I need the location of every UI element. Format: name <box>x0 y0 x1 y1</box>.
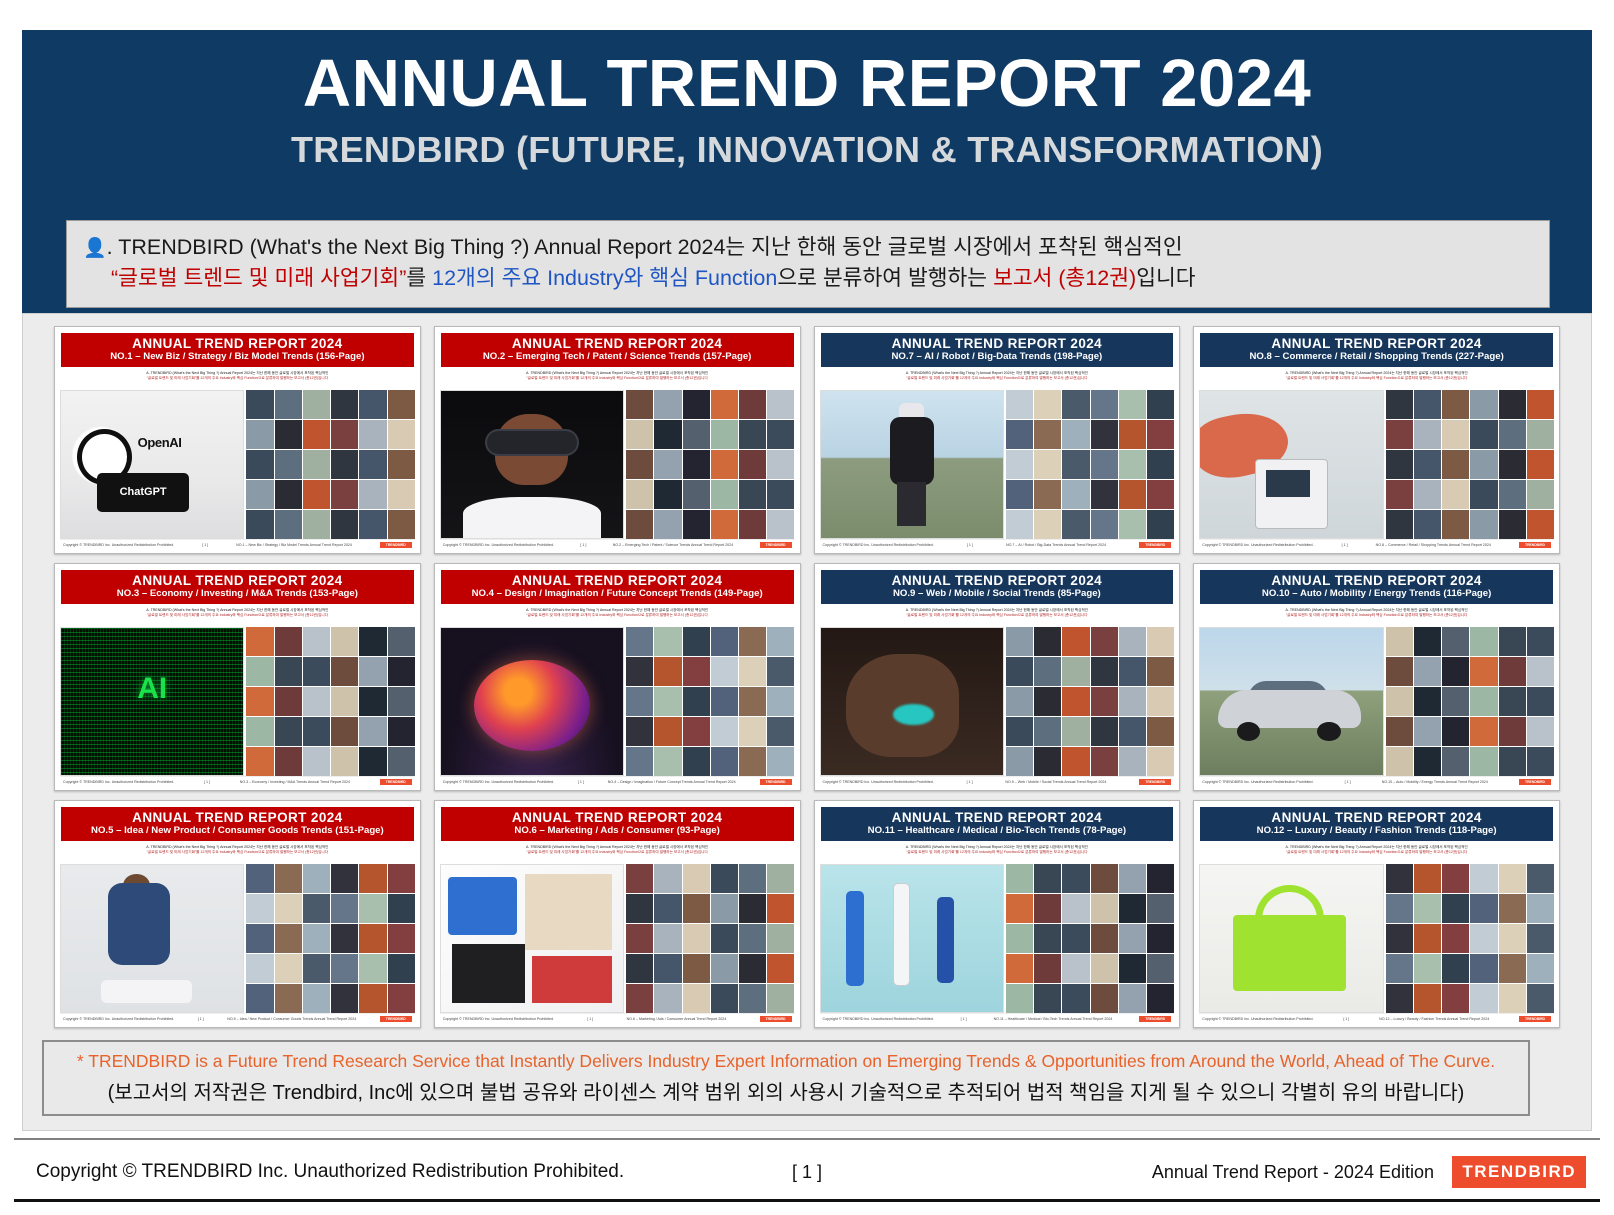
shirt-shape <box>463 497 602 538</box>
card-body <box>440 390 795 539</box>
thumbnail-tile <box>331 687 358 716</box>
card-footer-right: NO.8 – Commerce / Retail / Shopping Tren… <box>1376 543 1491 547</box>
card-footer: Copyright © TRENDBIRD Inc. Unauthorized … <box>440 539 795 550</box>
thumbnail-tile <box>331 657 358 686</box>
card-blurb-line-2: “글로벌 트렌드 및 미래 사업기회”를 12개의 주요 Industry와 핵… <box>1203 376 1550 381</box>
thumbnail-tile <box>246 717 273 746</box>
card-footer-copyright: Copyright © TRENDBIRD Inc. Unauthorized … <box>63 543 174 547</box>
thumbnail-tile <box>1091 627 1118 656</box>
thumbnail-tile <box>1034 450 1061 479</box>
thumbnail-tile <box>275 924 302 953</box>
thumbnail-tile <box>1414 954 1441 983</box>
card-footer-logo: TRENDBIRD <box>1519 779 1551 785</box>
thumbnail-tile <box>1119 627 1146 656</box>
thumbnail-tile <box>1499 984 1526 1013</box>
mobility-stool-shape <box>101 980 192 1004</box>
page-title: ANNUAL TREND REPORT 2024 <box>22 46 1592 121</box>
reports-grid: ANNUAL TREND REPORT 2024NO.1 – New Biz /… <box>32 323 1582 1028</box>
card-blurb: A. TRENDBIRD (What's the Next Big Thing … <box>440 368 795 390</box>
card-footer-page: [ 1 ] <box>961 1017 967 1021</box>
card-blurb: A. TRENDBIRD (What's the Next Big Thing … <box>440 842 795 864</box>
card-blurb-line-2: “글로벌 트렌드 및 미래 사업기회”를 12개의 주요 Industry와 핵… <box>444 613 791 618</box>
thumbnail-tile <box>1062 864 1089 893</box>
thumbnail-tile <box>246 747 273 776</box>
thumbnail-tile <box>246 864 273 893</box>
thumbnail-tile <box>1034 924 1061 953</box>
thumbnail-tile <box>767 657 794 686</box>
injection-pen-shape <box>937 897 953 982</box>
thumbnail-tile <box>683 420 710 449</box>
thumbnail-tile <box>1414 510 1441 539</box>
thumbnail-tile <box>626 954 653 983</box>
thumbnail-tile <box>1006 924 1033 953</box>
thumbnail-tile <box>1119 894 1146 923</box>
card-body <box>440 864 795 1013</box>
card-blurb: A. TRENDBIRD (What's the Next Big Thing … <box>1199 842 1554 864</box>
card-subtitle: NO.7 – AI / Robot / Big-Data Trends (198… <box>823 352 1172 363</box>
thumbnail-tile <box>331 717 358 746</box>
thumbnail-tile <box>1006 747 1033 776</box>
card-subtitle: NO.3 – Economy / Investing / M&A Trends … <box>63 589 412 600</box>
card-thumbnail-mosaic <box>626 627 794 776</box>
thumbnail-tile <box>1414 984 1441 1013</box>
card-footer-right: NO.11 – Healthcare / Medical / Bio-Tech … <box>994 1017 1113 1021</box>
thumbnail-tile <box>767 924 794 953</box>
card-hero-image <box>440 864 624 1013</box>
thumbnail-tile <box>388 894 415 923</box>
card-thumbnail-mosaic <box>1386 390 1554 539</box>
card-footer: Copyright © TRENDBIRD Inc. Unauthorized … <box>440 1013 795 1024</box>
card-blurb-line-2: “글로벌 트렌드 및 미래 사업기회”를 12개의 주요 Industry와 핵… <box>1203 850 1550 855</box>
thumbnail-tile <box>1414 390 1441 419</box>
thumbnail-tile <box>1499 390 1526 419</box>
card-footer-right: NO.9 – Web / Mobile / Social Trends Annu… <box>1005 780 1106 784</box>
thumbnail-tile <box>1414 747 1441 776</box>
card-title: ANNUAL TREND REPORT 2024 <box>443 573 792 588</box>
openai-wordmark: OpenAI <box>138 435 182 450</box>
card-blurb-line-2: “글로벌 트렌드 및 미래 사업기회”를 12개의 주요 Industry와 핵… <box>1203 613 1550 618</box>
thumbnail-tile <box>1527 717 1554 746</box>
thumbnail-tile <box>626 747 653 776</box>
footer-edition: Annual Trend Report - 2024 Edition <box>1152 1162 1434 1183</box>
thumbnail-tile <box>1386 390 1413 419</box>
thumbnail-tile <box>388 510 415 539</box>
thumbnail-tile <box>246 627 273 656</box>
thumbnail-tile <box>1147 627 1174 656</box>
thumbnail-tile <box>1062 984 1089 1013</box>
thumbnail-tile <box>739 747 766 776</box>
thumbnail-tile <box>683 687 710 716</box>
card-title: ANNUAL TREND REPORT 2024 <box>443 336 792 351</box>
thumbnail-tile <box>739 657 766 686</box>
card-footer-right: NO.4 – Design / Imagination / Future Con… <box>608 780 736 784</box>
thumbnail-tile <box>626 924 653 953</box>
thumbnail-tile <box>1386 747 1413 776</box>
card-footer: Copyright © TRENDBIRD Inc. Unauthorized … <box>1199 539 1554 550</box>
thumbnail-tile <box>711 717 738 746</box>
thumbnail-tile <box>1062 627 1089 656</box>
thumbnail-tile <box>1386 687 1413 716</box>
thumbnail-tile <box>683 627 710 656</box>
thumbnail-tile <box>1091 954 1118 983</box>
thumbnail-tile <box>1091 420 1118 449</box>
thumbnail-tile <box>388 864 415 893</box>
card-footer-logo: TRENDBIRD <box>380 779 412 785</box>
thumbnail-tile <box>331 747 358 776</box>
injection-pen-shape <box>846 891 864 985</box>
thumbnail-tile <box>683 894 710 923</box>
thumbnail-tile <box>1499 924 1526 953</box>
card-header: ANNUAL TREND REPORT 2024NO.8 – Commerce … <box>1199 332 1554 368</box>
thumbnail-tile <box>683 510 710 539</box>
description-text-3: 입니다 <box>1136 266 1195 290</box>
thumbnail-tile <box>1414 627 1441 656</box>
thumbnail-tile <box>275 747 302 776</box>
footer-divider <box>14 1138 1600 1140</box>
thumbnail-tile <box>331 984 358 1013</box>
thumbnail-tile <box>1091 510 1118 539</box>
thumbnail-tile <box>1386 627 1413 656</box>
thumbnail-tile <box>331 450 358 479</box>
card-hero-image <box>440 627 624 776</box>
report-card[interactable]: ANNUAL TREND REPORT 2024NO.6 – Marketing… <box>434 800 801 1028</box>
card-blurb: A. TRENDBIRD (What's the Next Big Thing … <box>440 605 795 627</box>
sphere-shape <box>474 660 591 751</box>
card-footer-logo: TRENDBIRD <box>1139 542 1171 548</box>
thumbnail-tile <box>683 864 710 893</box>
thumbnail-tile <box>1470 420 1497 449</box>
thumbnail-tile <box>1034 954 1061 983</box>
thumbnail-tile <box>739 480 766 509</box>
report-card[interactable]: ANNUAL TREND REPORT 2024NO.1 – New Biz /… <box>54 326 421 554</box>
thumbnail-tile <box>626 717 653 746</box>
thumbnail-tile <box>359 717 386 746</box>
thumbnail-tile <box>626 450 653 479</box>
thumbnail-tile <box>388 657 415 686</box>
card-footer-logo: TRENDBIRD <box>1139 779 1171 785</box>
thumbnail-tile <box>246 420 273 449</box>
card-blurb-line-2: “글로벌 트렌드 및 미래 사업기회”를 12개의 주요 Industry와 핵… <box>444 376 791 381</box>
card-thumbnail-mosaic <box>246 627 414 776</box>
thumbnail-tile <box>739 510 766 539</box>
thumbnail-tile <box>711 657 738 686</box>
thumbnail-tile <box>654 627 681 656</box>
thumbnail-tile <box>1386 450 1413 479</box>
description-text-1: 를 <box>406 266 432 290</box>
thumbnail-tile <box>1470 747 1497 776</box>
card-footer: Copyright © TRENDBIRD Inc. Unauthorized … <box>440 776 795 787</box>
thumbnail-tile <box>1147 747 1174 776</box>
report-card[interactable]: ANNUAL TREND REPORT 2024NO.4 – Design / … <box>434 563 801 791</box>
thumbnail-tile <box>275 450 302 479</box>
thumbnail-tile <box>331 627 358 656</box>
thumbnail-tile <box>767 954 794 983</box>
ai-letters: AI <box>61 672 243 706</box>
report-card[interactable]: ANNUAL TREND REPORT 2024NO.9 – Web / Mob… <box>814 563 1181 791</box>
thumbnail-tile <box>626 420 653 449</box>
card-title: ANNUAL TREND REPORT 2024 <box>63 573 412 588</box>
thumbnail-tile <box>739 717 766 746</box>
card-footer: Copyright © TRENDBIRD Inc. Unauthorized … <box>60 539 415 550</box>
thumbnail-tile <box>1091 984 1118 1013</box>
thumbnail-tile <box>1091 657 1118 686</box>
thumbnail-tile <box>1442 420 1469 449</box>
thumbnail-tile <box>1006 864 1033 893</box>
card-body <box>820 390 1175 539</box>
thumbnail-tile <box>1527 687 1554 716</box>
thumbnail-tile <box>1119 480 1146 509</box>
thumbnail-tile <box>1034 864 1061 893</box>
thumbnail-tile <box>1091 864 1118 893</box>
card-title: ANNUAL TREND REPORT 2024 <box>823 810 1172 825</box>
card-body: AI <box>60 627 415 776</box>
thumbnail-tile <box>767 984 794 1013</box>
thumbnail-tile <box>1006 717 1033 746</box>
thumbnail-tile <box>331 390 358 419</box>
thumbnail-tile <box>1147 657 1174 686</box>
thumbnail-tile <box>654 894 681 923</box>
thumbnail-tile <box>626 390 653 419</box>
thumbnail-tile <box>359 747 386 776</box>
card-footer-copyright: Copyright © TRENDBIRD Inc. Unauthorized … <box>823 1017 934 1021</box>
thumbnail-tile <box>1062 657 1089 686</box>
thumbnail-tile <box>683 450 710 479</box>
thumbnail-tile <box>711 420 738 449</box>
report-card[interactable]: ANNUAL TREND REPORT 2024NO.11 – Healthca… <box>814 800 1181 1028</box>
thumbnail-tile <box>626 480 653 509</box>
thumbnail-tile <box>1147 450 1174 479</box>
report-card[interactable]: ANNUAL TREND REPORT 2024NO.10 – Auto / M… <box>1193 563 1560 791</box>
thumbnail-tile <box>1470 480 1497 509</box>
card-thumbnail-mosaic <box>246 390 414 539</box>
thumbnail-tile <box>1470 510 1497 539</box>
footer-page-number: [ 1 ] <box>792 1162 822 1183</box>
card-hero-image <box>820 627 1004 776</box>
card-header: ANNUAL TREND REPORT 2024NO.7 – AI / Robo… <box>820 332 1175 368</box>
card-title: ANNUAL TREND REPORT 2024 <box>1202 336 1551 351</box>
thumbnail-tile <box>1442 984 1469 1013</box>
thumbnail-tile <box>1499 747 1526 776</box>
thumbnail-tile <box>711 984 738 1013</box>
thumbnail-tile <box>1006 954 1033 983</box>
thumbnail-tile <box>654 954 681 983</box>
card-hero-image <box>820 864 1004 1013</box>
card-title: ANNUAL TREND REPORT 2024 <box>1202 573 1551 588</box>
card-footer-page: [ 1 ] <box>967 780 973 784</box>
description-line-1: 👤. TRENDBIRD (What's the Next Big Thing … <box>83 232 1533 263</box>
thumbnail-tile <box>1470 657 1497 686</box>
thumbnail-tile <box>711 480 738 509</box>
thumbnail-tile <box>654 510 681 539</box>
card-footer-logo: TRENDBIRD <box>1139 1016 1171 1022</box>
thumbnail-tile <box>626 864 653 893</box>
thumbnail-tile <box>388 717 415 746</box>
thumbnail-tile <box>1386 420 1413 449</box>
thumbnail-tile <box>1442 480 1469 509</box>
thumbnail-tile <box>275 657 302 686</box>
trendbird-logo: TRENDBIRD <box>1452 1156 1586 1188</box>
card-footer-copyright: Copyright © TRENDBIRD Inc. Unauthorized … <box>63 1017 174 1021</box>
thumbnail-tile <box>683 747 710 776</box>
thumbnail-tile <box>1499 420 1526 449</box>
card-header: ANNUAL TREND REPORT 2024NO.1 – New Biz /… <box>60 332 415 368</box>
card-header: ANNUAL TREND REPORT 2024NO.2 – Emerging … <box>440 332 795 368</box>
card-body <box>60 864 415 1013</box>
thumbnail-tile <box>1470 687 1497 716</box>
thumbnail-tile <box>1091 390 1118 419</box>
card-footer-logo: TRENDBIRD <box>380 1016 412 1022</box>
thumbnail-tile <box>1119 717 1146 746</box>
card-footer: Copyright © TRENDBIRD Inc. Unauthorized … <box>820 539 1175 550</box>
thumbnail-tile <box>275 717 302 746</box>
card-thumbnail-mosaic <box>626 390 794 539</box>
thumbnail-tile <box>711 627 738 656</box>
thumbnail-tile <box>1499 480 1526 509</box>
thumbnail-tile <box>303 894 330 923</box>
thumbnail-tile <box>739 450 766 479</box>
thumbnail-tile <box>1119 687 1146 716</box>
collage-tile <box>525 874 613 951</box>
card-footer-right: NO.7 – AI / Robot / Big-Data Trends Annu… <box>1006 543 1106 547</box>
thumbnail-tile <box>683 717 710 746</box>
card-footer: Copyright © TRENDBIRD Inc. Unauthorized … <box>60 1013 415 1024</box>
card-footer-page: [ 1 ] <box>1345 780 1351 784</box>
thumbnail-tile <box>1442 924 1469 953</box>
description-text-2: 으로 분류하여 발행하는 <box>777 266 993 290</box>
thumbnail-tile <box>1386 924 1413 953</box>
thumbnail-tile <box>767 420 794 449</box>
card-hero-image <box>820 390 1004 539</box>
thumbnail-tile <box>303 747 330 776</box>
thumbnail-tile <box>1062 924 1089 953</box>
card-footer: Copyright © TRENDBIRD Inc. Unauthorized … <box>1199 776 1554 787</box>
thumbnail-tile <box>1470 390 1497 419</box>
card-header: ANNUAL TREND REPORT 2024NO.9 – Web / Mob… <box>820 569 1175 605</box>
thumbnail-tile <box>303 480 330 509</box>
notice-english: * TRENDBIRD is a Future Trend Research S… <box>77 1051 1495 1072</box>
thumbnail-tile <box>1091 480 1118 509</box>
thumbnail-tile <box>331 864 358 893</box>
thumbnail-tile <box>1499 687 1526 716</box>
thumbnail-tile <box>711 450 738 479</box>
thumbnail-tile <box>1062 687 1089 716</box>
thumbnail-tile <box>1470 984 1497 1013</box>
thumbnail-tile <box>359 480 386 509</box>
thumbnail-tile <box>1386 510 1413 539</box>
thumbnail-tile <box>359 864 386 893</box>
thumbnail-tile <box>388 480 415 509</box>
thumbnail-tile <box>1006 627 1033 656</box>
thumbnail-tile <box>359 510 386 539</box>
thumbnail-tile <box>1499 510 1526 539</box>
report-card[interactable]: ANNUAL TREND REPORT 2024NO.3 – Economy /… <box>54 563 421 791</box>
card-footer-right: NO.3 – Economy / Investing / M&A Trends … <box>240 780 350 784</box>
thumbnail-tile <box>1527 627 1554 656</box>
card-footer-copyright: Copyright © TRENDBIRD Inc. Unauthorized … <box>823 780 934 784</box>
thumbnail-tile <box>359 894 386 923</box>
thumbnail-tile <box>388 420 415 449</box>
report-card[interactable]: ANNUAL TREND REPORT 2024NO.12 – Luxury /… <box>1193 800 1560 1028</box>
description-highlight-blue-1: 12개의 주요 Industry와 핵심 Function <box>432 266 777 290</box>
card-header: ANNUAL TREND REPORT 2024NO.11 – Healthca… <box>820 806 1175 842</box>
thumbnail-tile <box>654 450 681 479</box>
robot-body-shape <box>890 417 934 485</box>
thumbnail-tile <box>1119 954 1146 983</box>
thumbnail-tile <box>1386 984 1413 1013</box>
thumbnail-tile <box>739 984 766 1013</box>
thumbnail-tile <box>654 747 681 776</box>
thumbnail-tile <box>303 420 330 449</box>
thumbnail-tile <box>359 450 386 479</box>
collage-tile <box>532 956 612 1003</box>
thumbnail-tile <box>246 984 273 1013</box>
thumbnail-tile <box>1499 954 1526 983</box>
report-card[interactable]: ANNUAL TREND REPORT 2024NO.2 – Emerging … <box>434 326 801 554</box>
thumbnail-tile <box>388 984 415 1013</box>
thumbnail-tile <box>359 657 386 686</box>
thumbnail-tile <box>1034 480 1061 509</box>
thumbnail-tile <box>654 924 681 953</box>
report-card[interactable]: ANNUAL TREND REPORT 2024NO.7 – AI / Robo… <box>814 326 1181 554</box>
card-header: ANNUAL TREND REPORT 2024NO.10 – Auto / M… <box>1199 569 1554 605</box>
thumbnail-tile <box>1527 450 1554 479</box>
card-footer-logo: TRENDBIRD <box>380 542 412 548</box>
report-card[interactable]: ANNUAL TREND REPORT 2024NO.8 – Commerce … <box>1193 326 1560 554</box>
card-footer-copyright: Copyright © TRENDBIRD Inc. Unauthorized … <box>443 1017 554 1021</box>
thumbnail-tile <box>1527 480 1554 509</box>
thumbnail-tile <box>767 480 794 509</box>
thumbnail-tile <box>359 687 386 716</box>
thumbnail-tile <box>1442 717 1469 746</box>
report-card[interactable]: ANNUAL TREND REPORT 2024NO.5 – Idea / Ne… <box>54 800 421 1028</box>
thumbnail-tile <box>1006 420 1033 449</box>
thumbnail-tile <box>303 954 330 983</box>
thumbnail-tile <box>1527 390 1554 419</box>
thumbnail-tile <box>303 984 330 1013</box>
thumbnail-tile <box>711 687 738 716</box>
thumbnail-tile <box>683 954 710 983</box>
card-header: ANNUAL TREND REPORT 2024NO.4 – Design / … <box>440 569 795 605</box>
thumbnail-tile <box>767 747 794 776</box>
card-blurb: A. TRENDBIRD (What's the Next Big Thing … <box>1199 368 1554 390</box>
thumbnail-tile <box>626 510 653 539</box>
thumbnail-tile <box>1119 450 1146 479</box>
thumbnail-tile <box>1062 390 1089 419</box>
thumbnail-tile <box>739 954 766 983</box>
thumbnail-tile <box>1386 480 1413 509</box>
thumbnail-tile <box>1527 984 1554 1013</box>
thumbnail-tile <box>1062 420 1089 449</box>
card-thumbnail-mosaic <box>1006 864 1174 1013</box>
card-footer-right: NO.2 – Emerging Tech / Patent / Science … <box>613 543 733 547</box>
card-body <box>1199 864 1554 1013</box>
thumbnail-tile <box>1062 894 1089 923</box>
header-title-group: ANNUAL TREND REPORT 2024 TRENDBIRD (FUTU… <box>22 46 1592 171</box>
thumbnail-tile <box>654 657 681 686</box>
thumbnail-tile <box>388 627 415 656</box>
thumbnail-tile <box>767 450 794 479</box>
thumbnail-tile <box>331 954 358 983</box>
card-footer-copyright: Copyright © TRENDBIRD Inc. Unauthorized … <box>1202 1017 1313 1021</box>
thumbnail-tile <box>275 627 302 656</box>
card-footer-page: [ 1 ] <box>587 1017 593 1021</box>
thumbnail-tile <box>359 390 386 419</box>
description-line-1-text: . TRENDBIRD (What's the Next Big Thing ?… <box>107 235 1183 259</box>
thumbnail-tile <box>654 864 681 893</box>
thumbnail-tile <box>1442 954 1469 983</box>
thumbnail-tile <box>331 510 358 539</box>
card-body: OpenAIChatGPT <box>60 390 415 539</box>
